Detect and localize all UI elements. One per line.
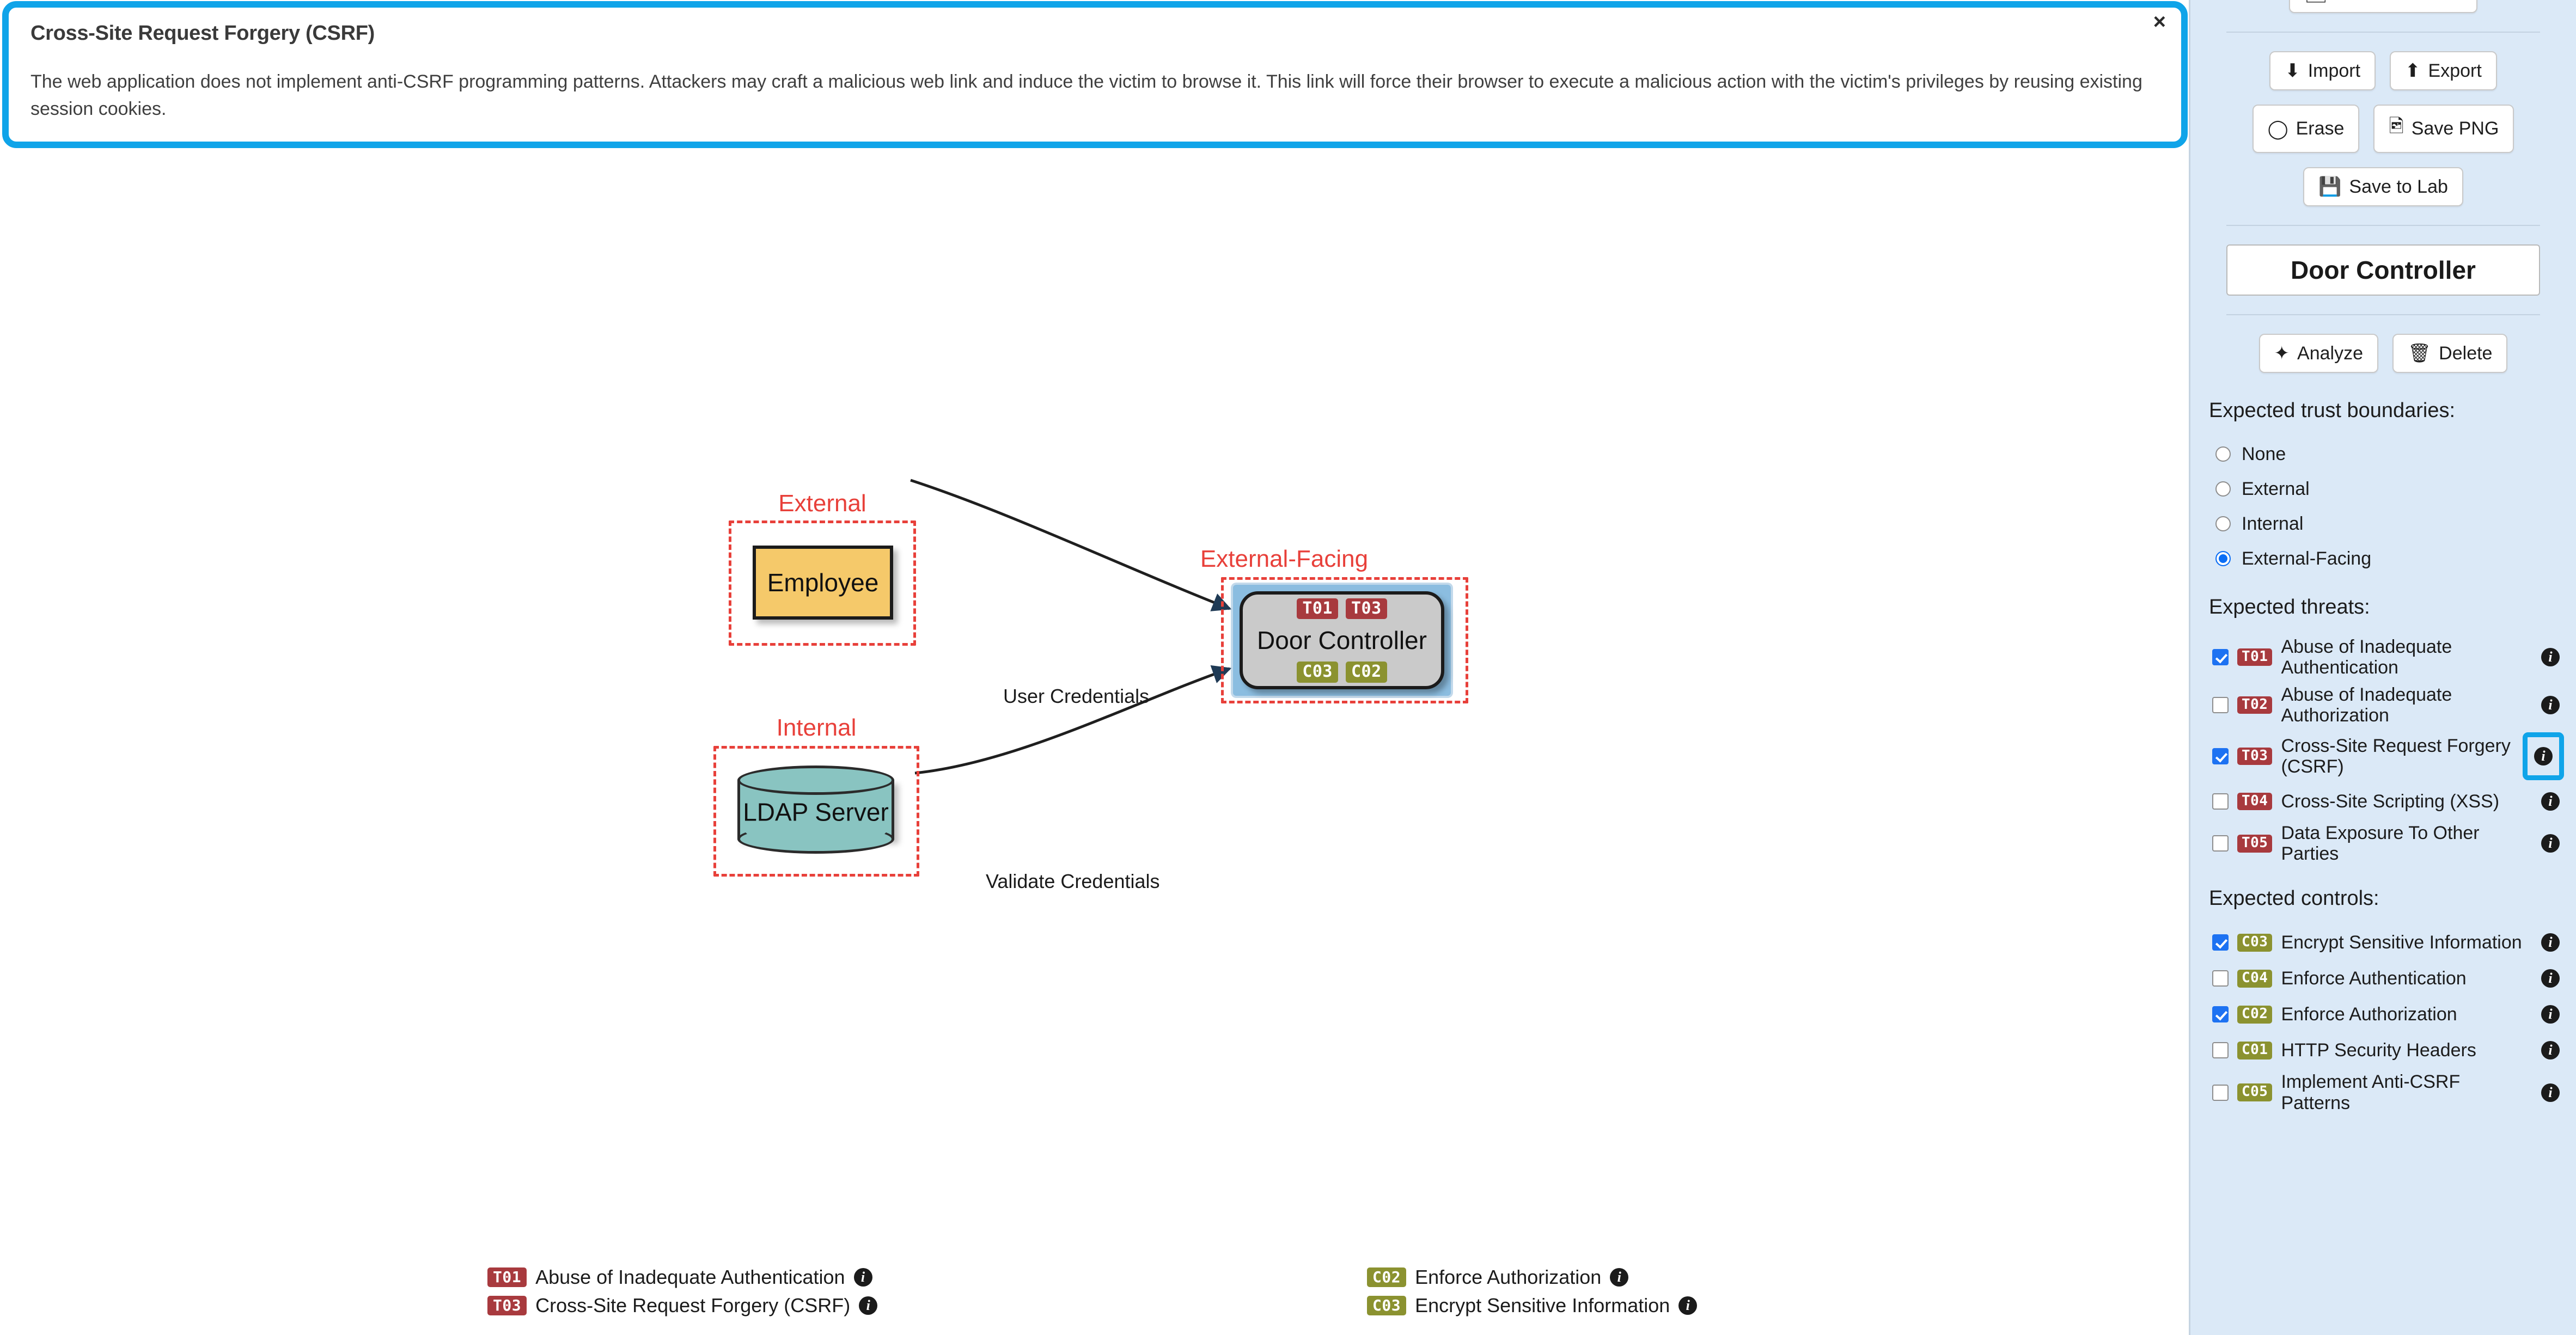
trust-boundary-external-facing[interactable]: External-Facing T01 T03 Door Controller …	[1221, 577, 1347, 703]
floppy-disk-icon: 💾	[2318, 176, 2341, 198]
control-item-c05[interactable]: C05 Implement Anti-CSRF Patterns i	[2212, 1068, 2564, 1116]
legend-item: C02 Enforce Authorization i	[1367, 1263, 1697, 1291]
control-badge: C03	[2237, 934, 2272, 951]
radio-indicator[interactable]	[2215, 446, 2231, 462]
controls-heading: Expected controls:	[2209, 887, 2564, 910]
threat-item-t05[interactable]: T05 Data Exposure To Other Parties i	[2212, 819, 2564, 867]
control-badge: C02	[2237, 1006, 2272, 1023]
control-checkbox[interactable]	[2212, 970, 2229, 987]
threat-description-tooltip: × Cross-Site Request Forgery (CSRF) The …	[2, 1, 2188, 148]
threat-label: Cross-Site Scripting (XSS)	[2281, 791, 2532, 812]
control-label: Implement Anti-CSRF Patterns	[2281, 1071, 2532, 1113]
info-icon[interactable]: i	[2541, 834, 2560, 853]
legend-label: Cross-Site Request Forgery (CSRF)	[535, 1294, 850, 1317]
threat-badge: T01	[2237, 648, 2272, 666]
threat-badge: T01	[487, 1267, 527, 1287]
info-icon[interactable]: i	[2541, 696, 2560, 714]
threats-section: Expected threats: T01 Abuse of Inadequat…	[2202, 596, 2564, 867]
radio-label: External	[2242, 479, 2310, 500]
controls-section: Expected controls: C03 Encrypt Sensitive…	[2202, 887, 2564, 1116]
import-button[interactable]: ⬇ Import	[2269, 51, 2376, 90]
control-checkbox[interactable]	[2212, 1042, 2229, 1058]
upload-icon: ⬆	[2405, 60, 2421, 82]
legend-item: T01 Abuse of Inadequate Authentication i	[487, 1263, 877, 1291]
analyze-button[interactable]: ✦ Analyze	[2259, 334, 2378, 373]
info-glyph: i	[2541, 1041, 2560, 1060]
right-sidebar: 🗃 Add Data Store ⬇ Import ⬆ Export ◯ Era…	[2189, 0, 2576, 1335]
add-data-store-row: 🗃 Add Data Store	[2202, 0, 2564, 13]
diagram-legend: T01 Abuse of Inadequate Authentication i…	[0, 1263, 2186, 1328]
info-icon[interactable]: i	[859, 1296, 877, 1315]
radio-label: External-Facing	[2242, 548, 2371, 569]
info-icon[interactable]: i	[1610, 1268, 1628, 1287]
threat-item-t01[interactable]: T01 Abuse of Inadequate Authentication i	[2212, 633, 2564, 681]
info-icon[interactable]: i	[2523, 732, 2564, 780]
radio-indicator[interactable]	[2215, 481, 2231, 497]
threat-label: Abuse of Inadequate Authorization	[2281, 684, 2532, 726]
info-glyph: i	[2541, 1083, 2560, 1102]
threat-badge: T02	[2237, 696, 2272, 714]
info-glyph: i	[2541, 648, 2560, 666]
threat-checkbox[interactable]	[2212, 793, 2229, 810]
threat-item-t04[interactable]: T04 Cross-Site Scripting (XSS) i	[2212, 783, 2564, 819]
add-data-store-label: Add Data Store	[2335, 0, 2462, 4]
control-badge: C03	[1297, 662, 1338, 683]
info-icon[interactable]: i	[2541, 1041, 2560, 1060]
import-label: Import	[2308, 60, 2360, 82]
node-door-controller[interactable]: T01 T03 Door Controller C03 C02	[1240, 591, 1444, 689]
info-glyph: i	[2541, 933, 2560, 952]
selected-element-name[interactable]: Door Controller	[2226, 244, 2540, 296]
trust-boundary-internal[interactable]: Internal LDAP Server	[713, 746, 919, 877]
radio-option-external[interactable]: External	[2215, 471, 2564, 506]
trust-boundary-label: Internal	[713, 714, 919, 742]
save-png-label: Save PNG	[2412, 118, 2499, 139]
threat-badge: T03	[487, 1296, 527, 1315]
export-button[interactable]: ⬆ Export	[2390, 51, 2497, 90]
analyze-delete-row: ✦ Analyze 🗑 Delete	[2202, 334, 2564, 373]
radio-indicator[interactable]	[2215, 516, 2231, 531]
threat-modeling-app: × Cross-Site Request Forgery (CSRF) The …	[0, 0, 2576, 1335]
threat-checkbox[interactable]	[2212, 748, 2229, 764]
control-badge: C05	[2237, 1083, 2272, 1101]
info-glyph: i	[2534, 747, 2553, 766]
control-item-c03[interactable]: C03 Encrypt Sensitive Information i	[2212, 924, 2564, 960]
control-badge: C04	[2237, 970, 2272, 987]
control-checkbox[interactable]	[2212, 1085, 2229, 1101]
erase-button[interactable]: ◯ Erase	[2253, 105, 2360, 153]
save-to-lab-row: 💾 Save to Lab	[2202, 167, 2564, 206]
info-icon[interactable]: i	[1678, 1296, 1697, 1315]
control-item-c02[interactable]: C02 Enforce Authorization i	[2212, 996, 2564, 1032]
control-item-c01[interactable]: C01 HTTP Security Headers i	[2212, 1032, 2564, 1068]
save-png-button[interactable]: 🖻 Save PNG	[2373, 105, 2514, 153]
export-label: Export	[2428, 60, 2482, 82]
threat-badge: T03	[2237, 748, 2272, 765]
info-glyph: i	[2541, 969, 2560, 988]
control-badge: C02	[1346, 662, 1387, 683]
trust-boundaries-heading: Expected trust boundaries:	[2209, 399, 2564, 422]
legend-label: Encrypt Sensitive Information	[1415, 1294, 1670, 1317]
trust-boundary-label: External-Facing	[1199, 546, 1369, 573]
image-icon: 🖻	[2389, 113, 2403, 144]
radio-indicator[interactable]	[2215, 551, 2231, 566]
radio-label: Internal	[2242, 513, 2303, 535]
threat-label: Cross-Site Request Forgery (CSRF)	[2281, 736, 2514, 777]
threat-checkbox[interactable]	[2212, 649, 2229, 665]
info-glyph: i	[2541, 834, 2560, 853]
erase-savepng-row: ◯ Erase 🖻 Save PNG	[2202, 105, 2564, 153]
threat-checkbox[interactable]	[2212, 697, 2229, 713]
import-export-row: ⬇ Import ⬆ Export	[2202, 51, 2564, 90]
threat-item-t02[interactable]: T02 Abuse of Inadequate Authorization i	[2212, 681, 2564, 729]
info-glyph: i	[2541, 792, 2560, 811]
info-icon[interactable]: i	[2541, 1005, 2560, 1024]
radio-label: None	[2242, 444, 2286, 465]
legend-label: Enforce Authorization	[1415, 1266, 1601, 1289]
legend-controls-column: C02 Enforce Authorization i C03 Encrypt …	[1367, 1263, 1697, 1320]
threat-badge: T01	[1297, 598, 1338, 620]
control-checkbox[interactable]	[2212, 1006, 2229, 1022]
close-icon[interactable]: ×	[2153, 11, 2166, 33]
delete-label: Delete	[2439, 343, 2492, 364]
node-label: Door Controller	[1257, 626, 1427, 655]
add-data-store-button[interactable]: 🗃 Add Data Store	[2289, 0, 2477, 13]
threat-item-t03[interactable]: T03 Cross-Site Request Forgery (CSRF) i	[2212, 729, 2564, 783]
threats-heading: Expected threats:	[2209, 596, 2564, 619]
diagram-canvas[interactable]: External Employee External-Facing T01 T0…	[0, 152, 2186, 1335]
tooltip-title: Cross-Site Request Forgery (CSRF)	[30, 22, 2159, 45]
tooltip-body: The web application does not implement a…	[30, 68, 2157, 123]
threat-badge: T05	[2237, 835, 2272, 852]
info-icon[interactable]: i	[2541, 648, 2560, 666]
edge-label-validate-credentials: Validate Credentials	[986, 870, 1160, 893]
save-to-lab-label: Save to Lab	[2349, 176, 2447, 198]
database-icon: 🗃	[2304, 0, 2328, 4]
trust-boundary-external[interactable]: External Employee	[729, 520, 916, 646]
legend-threats-column: T01 Abuse of Inadequate Authentication i…	[487, 1263, 877, 1320]
threat-label: Abuse of Inadequate Authentication	[2281, 636, 2532, 678]
control-item-c04[interactable]: C04 Enforce Authentication i	[2212, 960, 2564, 996]
radio-option-internal[interactable]: Internal	[2215, 506, 2564, 541]
divider	[2226, 32, 2540, 33]
control-badge: C01	[2237, 1042, 2272, 1059]
eraser-icon: ◯	[2268, 118, 2288, 140]
legend-item: T03 Cross-Site Request Forgery (CSRF) i	[487, 1291, 877, 1320]
node-label: Employee	[767, 568, 879, 597]
threat-badge: T03	[1346, 598, 1387, 620]
diagram-edges	[0, 152, 2186, 1335]
info-glyph: i	[2541, 1005, 2560, 1024]
threat-badge: T04	[2237, 793, 2272, 810]
threat-checkbox[interactable]	[2212, 835, 2229, 852]
save-to-lab-button[interactable]: 💾 Save to Lab	[2303, 167, 2463, 206]
threat-label: Data Exposure To Other Parties	[2281, 823, 2532, 864]
delete-button[interactable]: 🗑 Delete	[2392, 334, 2507, 373]
analyze-label: Analyze	[2297, 343, 2363, 364]
cylinder-top	[737, 766, 894, 795]
control-label: Enforce Authorization	[2281, 1004, 2532, 1025]
node-label: LDAP Server	[737, 797, 894, 826]
info-icon[interactable]: i	[2541, 969, 2560, 988]
divider	[2226, 314, 2540, 315]
control-label: HTTP Security Headers	[2281, 1040, 2532, 1061]
info-icon[interactable]: i	[2541, 933, 2560, 952]
legend-item: C03 Encrypt Sensitive Information i	[1367, 1291, 1697, 1320]
control-label: Enforce Authentication	[2281, 968, 2532, 989]
legend-label: Abuse of Inadequate Authentication	[535, 1266, 845, 1289]
control-checkbox[interactable]	[2212, 934, 2229, 951]
erase-label: Erase	[2296, 118, 2345, 139]
info-icon[interactable]: i	[854, 1268, 872, 1287]
control-badge: C02	[1367, 1267, 1406, 1287]
control-label: Encrypt Sensitive Information	[2281, 932, 2532, 953]
edge-label-user-credentials: User Credentials	[1003, 685, 1149, 708]
node-employee[interactable]: Employee	[753, 546, 893, 620]
trash-icon: 🗑	[2408, 342, 2431, 364]
info-glyph: i	[2541, 696, 2560, 714]
node-control-badges: C03 C02	[1297, 662, 1387, 683]
info-icon[interactable]: i	[2541, 792, 2560, 811]
radio-option-none[interactable]: None	[2215, 437, 2564, 471]
trust-boundary-label: External	[729, 490, 916, 517]
cylinder-bottom	[737, 824, 894, 854]
control-badge: C03	[1367, 1296, 1406, 1315]
divider	[2226, 225, 2540, 226]
trust-boundaries-section: Expected trust boundaries: None External…	[2202, 399, 2564, 576]
radio-option-external-facing[interactable]: External-Facing	[2215, 541, 2564, 576]
node-ldap-server[interactable]: LDAP Server	[737, 766, 894, 854]
download-icon: ⬇	[2285, 60, 2300, 82]
node-threat-badges: T01 T03	[1297, 598, 1387, 620]
magic-wand-icon: ✦	[2274, 342, 2290, 364]
info-icon[interactable]: i	[2541, 1083, 2560, 1102]
